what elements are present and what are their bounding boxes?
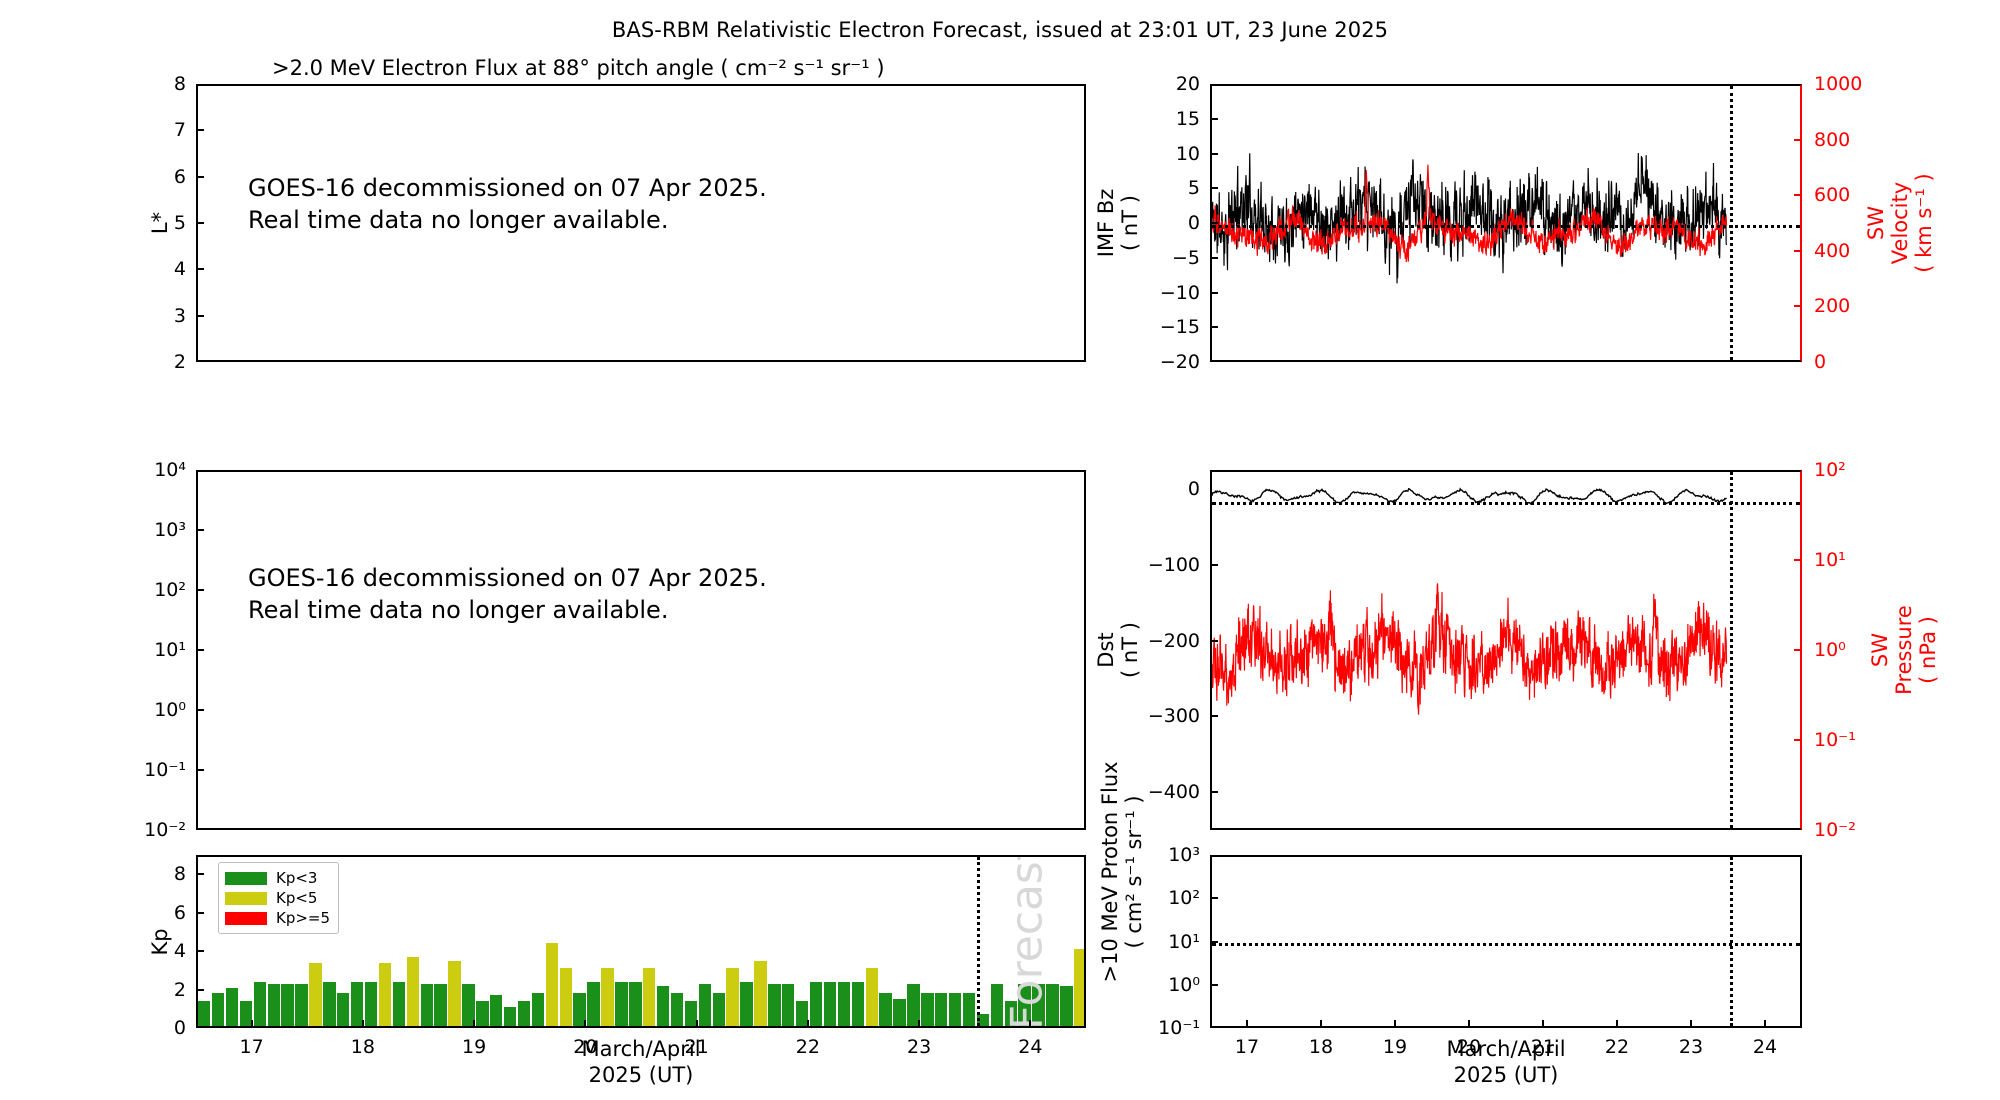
kp-bar <box>254 982 266 1026</box>
lstar-ytickmark-1 <box>196 129 204 131</box>
flux-ytick-1: 10³ <box>104 519 186 541</box>
proton-ytickmark-3 <box>1210 984 1218 986</box>
dst-ytickmark-3 <box>1794 739 1802 741</box>
proton-flux-panel <box>1210 855 1802 1028</box>
dst-ytick-0: 0 <box>1100 478 1200 500</box>
kp-legend-row-0: Kp<3 <box>225 868 330 888</box>
electron-flux-panel-title: >2.0 MeV Electron Flux at 88° pitch angl… <box>272 56 885 80</box>
proton-ytick-0: 10³ <box>1118 844 1200 866</box>
kp-bar <box>963 993 975 1026</box>
proton-xtick-5: 22 <box>1605 1036 1629 1058</box>
kp-ytick-1: 6 <box>146 902 186 924</box>
kp-bar <box>323 982 335 1026</box>
lstar-ytick-1: 7 <box>104 119 186 141</box>
imf-bz-panel <box>1210 84 1802 362</box>
dst-ytick-2: 10⁰ <box>1814 639 1846 661</box>
kp-bar <box>434 984 446 1026</box>
forecast-divider-dst <box>1730 472 1733 828</box>
kp-bar <box>726 968 738 1026</box>
dst-panel <box>1210 470 1802 830</box>
proton-xtickmark-6 <box>1690 1020 1692 1028</box>
imf-ytick-0: 1000 <box>1814 73 1862 95</box>
dst-ytick-1: 10¹ <box>1814 549 1846 571</box>
dst-ytickmark-1 <box>1794 559 1802 561</box>
proton-ytickmark-1 <box>1210 897 1218 899</box>
imf-ytick-2: 600 <box>1814 184 1850 206</box>
kp-bar <box>198 1001 210 1026</box>
kp-bar <box>740 982 752 1026</box>
proton-xtick-4: 21 <box>1531 1036 1555 1058</box>
kp-bar <box>476 1001 488 1026</box>
kp-ytickmark-3 <box>196 989 204 991</box>
proton-ytick-3: 10⁰ <box>1118 974 1200 996</box>
dst-ytick-2: −200 <box>1100 630 1200 652</box>
kp-xtickmark-7 <box>1029 1020 1031 1028</box>
proton-xtickmark-1 <box>1320 1020 1322 1028</box>
imf-ytick-8: −20 <box>1118 351 1200 373</box>
kp-bar <box>754 961 766 1026</box>
imf-ytickmark-4 <box>1210 222 1218 224</box>
kp-xtickmark-5 <box>807 1020 809 1028</box>
imf-ytick-3: 400 <box>1814 240 1850 262</box>
sw-pressure-y-axis-label: SW Pressure ( nPa ) <box>1868 602 1940 698</box>
lstar-panel: GOES-16 decommissioned on 07 Apr 2025. R… <box>196 84 1086 362</box>
kp-bar <box>448 961 460 1026</box>
kp-ytickmark-1 <box>196 912 204 914</box>
kp-bar <box>879 993 891 1026</box>
imf-bz-trace <box>1212 86 1800 360</box>
kp-bar <box>504 1007 516 1026</box>
imf-ytick-0: 20 <box>1118 73 1200 95</box>
proton-xtick-1: 18 <box>1309 1036 1333 1058</box>
kp-bar <box>601 968 613 1026</box>
x-axis-label-left: March/April 2025 (UT) <box>581 1036 700 1089</box>
imf-ytickmark-7 <box>1210 326 1218 328</box>
electron-flux-panel: GOES-16 decommissioned on 07 Apr 2025. R… <box>196 470 1086 830</box>
kp-xtick-1: 18 <box>351 1036 375 1058</box>
kp-xtick-7: 24 <box>1018 1036 1042 1058</box>
flux-ytick-6: 10⁻² <box>104 819 186 841</box>
kp-bar <box>295 984 307 1026</box>
imf-ytick-5: 0 <box>1814 351 1826 373</box>
kp-bar <box>212 993 224 1026</box>
proton-ytick-4: 10⁻¹ <box>1118 1017 1200 1039</box>
forecast-watermark: Forecast <box>1001 855 1052 1028</box>
kp-bar <box>713 993 725 1026</box>
flux-ytickmark-3 <box>196 649 204 651</box>
kp-legend: Kp<3Kp<5Kp>=5 <box>218 862 339 934</box>
kp-bar <box>587 982 599 1026</box>
dst-ytickmark-1 <box>1210 564 1218 566</box>
lstar-ytick-3: 5 <box>104 212 186 234</box>
kp-bar <box>421 984 433 1026</box>
dst-ytickmark-2 <box>1210 640 1218 642</box>
forecast-divider-kp <box>977 857 980 1026</box>
kp-bar <box>838 982 850 1026</box>
proton-xtickmark-4 <box>1542 1020 1544 1028</box>
kp-xtickmark-0 <box>251 1020 253 1028</box>
proton-xtickmark-2 <box>1394 1020 1396 1028</box>
proton-ytickmark-2 <box>1210 941 1218 943</box>
flux-ytick-0: 10⁴ <box>104 459 186 481</box>
kp-legend-label-1: Kp<5 <box>276 889 317 907</box>
kp-bar <box>810 982 822 1026</box>
kp-bar <box>1060 986 1072 1026</box>
flux-ytick-2: 10² <box>104 579 186 601</box>
lstar-ytickmark-5 <box>196 315 204 317</box>
imf-ytickmark-3 <box>1210 187 1218 189</box>
imf-ytick-5: −5 <box>1118 247 1200 269</box>
proton-xtick-3: 20 <box>1457 1036 1481 1058</box>
proton-xtick-7: 24 <box>1753 1036 1777 1058</box>
imf-ytickmark-3 <box>1794 250 1802 252</box>
kp-bar <box>337 993 349 1026</box>
proton-xtickmark-0 <box>1246 1020 1248 1028</box>
kp-bar <box>490 995 502 1026</box>
imf-ytick-6: −10 <box>1118 282 1200 304</box>
lstar-ytickmark-3 <box>196 222 204 224</box>
kp-ytick-2: 4 <box>146 940 186 962</box>
dst-ytickmark-3 <box>1210 715 1218 717</box>
proton-ytick-2: 10¹ <box>1118 931 1200 953</box>
dst-ytick-1: −100 <box>1100 554 1200 576</box>
kp-xtickmark-2 <box>473 1020 475 1028</box>
dst-zero-line <box>1212 502 1800 505</box>
imf-ytick-4: 0 <box>1118 212 1200 234</box>
kp-bar <box>281 984 293 1026</box>
imf-ytickmark-2 <box>1210 153 1218 155</box>
kp-bar <box>782 984 794 1026</box>
kp-xtick-2: 19 <box>462 1036 486 1058</box>
kp-xtick-5: 22 <box>796 1036 820 1058</box>
kp-bar <box>532 993 544 1026</box>
kp-bar <box>949 993 961 1026</box>
kp-legend-label-0: Kp<3 <box>276 869 317 887</box>
kp-bar <box>615 982 627 1026</box>
flux-ytickmark-1 <box>196 529 204 531</box>
kp-xtickmark-6 <box>918 1020 920 1028</box>
figure-title: BAS-RBM Relativistic Electron Forecast, … <box>0 18 2000 42</box>
lstar-ytickmark-2 <box>196 176 204 178</box>
kp-legend-swatch-0 <box>225 872 267 885</box>
imf-ytickmark-2 <box>1794 194 1802 196</box>
flux-ytickmark-5 <box>196 769 204 771</box>
imf-ytick-7: −15 <box>1118 316 1200 338</box>
dst-ytick-4: 10⁻² <box>1814 819 1856 841</box>
sw-velocity-y-axis-label: SW Velocity ( km s⁻¹ ) <box>1864 173 1936 273</box>
flux-ytick-3: 10¹ <box>104 639 186 661</box>
kp-xtick-0: 17 <box>240 1036 264 1058</box>
proton-xtick-0: 17 <box>1235 1036 1259 1058</box>
kp-bar <box>921 993 933 1026</box>
kp-bar <box>657 986 669 1026</box>
proton-xtick-6: 23 <box>1679 1036 1703 1058</box>
kp-ytick-3: 2 <box>146 979 186 1001</box>
kp-bar <box>1074 949 1086 1026</box>
proton-xtickmark-5 <box>1616 1020 1618 1028</box>
kp-bar <box>824 982 836 1026</box>
lstar-ytick-2: 6 <box>104 166 186 188</box>
kp-xtickmark-1 <box>362 1020 364 1028</box>
kp-legend-row-1: Kp<5 <box>225 888 330 908</box>
lstar-no-data-message: GOES-16 decommissioned on 07 Apr 2025. R… <box>248 172 767 237</box>
kp-xtickmark-4 <box>696 1020 698 1028</box>
flux-ytickmark-2 <box>196 589 204 591</box>
kp-bar <box>866 968 878 1026</box>
imf-ytick-1: 800 <box>1814 129 1850 151</box>
kp-bar <box>893 999 905 1026</box>
lstar-ytick-0: 8 <box>104 73 186 95</box>
imf-ytick-1: 15 <box>1118 108 1200 130</box>
flux-ytick-4: 10⁰ <box>104 699 186 721</box>
kp-xtick-6: 23 <box>907 1036 931 1058</box>
kp-bar <box>393 982 405 1026</box>
kp-bar <box>643 968 655 1026</box>
kp-ytick-0: 8 <box>146 863 186 885</box>
dst-trace <box>1212 472 1800 828</box>
kp-bar <box>629 982 641 1026</box>
imf-ytick-2: 10 <box>1118 143 1200 165</box>
kp-ytickmark-0 <box>196 873 204 875</box>
kp-legend-label-2: Kp>=5 <box>276 909 330 927</box>
dst-ytick-4: −400 <box>1100 781 1200 803</box>
kp-bar <box>768 984 780 1026</box>
imf-zero-line <box>1212 225 1800 228</box>
flux-ytick-5: 10⁻¹ <box>104 759 186 781</box>
kp-legend-swatch-1 <box>225 892 267 905</box>
kp-bar <box>852 982 864 1026</box>
proton-threshold-line <box>1212 943 1800 946</box>
imf-ytickmark-5 <box>1210 257 1218 259</box>
kp-legend-row-2: Kp>=5 <box>225 908 330 928</box>
imf-ytickmark-4 <box>1794 305 1802 307</box>
proton-ytick-1: 10² <box>1118 887 1200 909</box>
imf-ytickmark-1 <box>1794 139 1802 141</box>
forecast-divider-proton <box>1730 857 1733 1026</box>
dst-ytickmark-2 <box>1794 649 1802 651</box>
kp-bar <box>365 982 377 1026</box>
kp-bar <box>699 984 711 1026</box>
kp-xtickmark-3 <box>584 1020 586 1028</box>
kp-bar <box>309 963 321 1026</box>
kp-bar <box>407 957 419 1026</box>
kp-ytick-4: 0 <box>146 1017 186 1039</box>
kp-xtick-3: 20 <box>573 1036 597 1058</box>
kp-legend-swatch-2 <box>225 912 267 925</box>
lstar-ytick-6: 2 <box>104 351 186 373</box>
dst-ytick-3: −300 <box>1100 705 1200 727</box>
kp-bar <box>671 993 683 1026</box>
kp-ytickmark-2 <box>196 950 204 952</box>
proton-xtickmark-7 <box>1764 1020 1766 1028</box>
kp-xtick-4: 21 <box>685 1036 709 1058</box>
kp-bar <box>546 943 558 1026</box>
imf-ytick-3: 5 <box>1118 177 1200 199</box>
dst-ytick-3: 10⁻¹ <box>1814 729 1856 751</box>
proton-xtick-2: 19 <box>1383 1036 1407 1058</box>
imf-ytick-4: 200 <box>1814 295 1850 317</box>
kp-bar <box>226 988 238 1026</box>
imf-ytickmark-1 <box>1210 118 1218 120</box>
forecast-divider-imf <box>1730 86 1733 360</box>
lstar-ytick-4: 4 <box>104 258 186 280</box>
figure-canvas: BAS-RBM Relativistic Electron Forecast, … <box>0 0 2000 1100</box>
kp-bar <box>935 993 947 1026</box>
dst-ytick-0: 10² <box>1814 459 1846 481</box>
kp-bar <box>268 984 280 1026</box>
lstar-ytickmark-4 <box>196 268 204 270</box>
lstar-ytick-5: 3 <box>104 305 186 327</box>
kp-bar <box>379 963 391 1026</box>
kp-bar <box>560 968 572 1026</box>
flux-no-data-message: GOES-16 decommissioned on 07 Apr 2025. R… <box>248 562 767 627</box>
imf-ytickmark-6 <box>1210 292 1218 294</box>
proton-xtickmark-3 <box>1468 1020 1470 1028</box>
kp-bar <box>518 1001 530 1026</box>
flux-ytickmark-4 <box>196 709 204 711</box>
dst-ytickmark-4 <box>1210 791 1218 793</box>
